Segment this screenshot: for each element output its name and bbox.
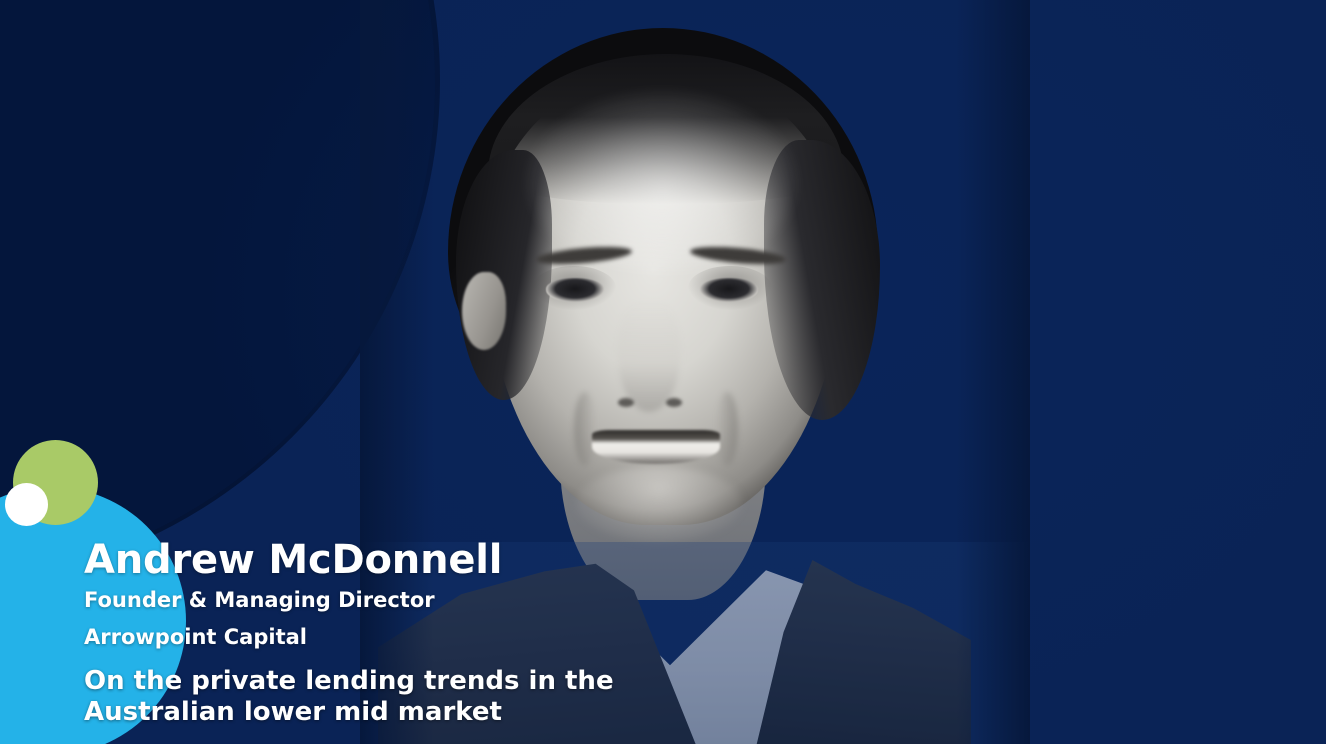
portrait-nostril-right: [666, 398, 682, 407]
portrait-smile-line-left: [574, 392, 596, 466]
portrait-chin: [576, 466, 742, 542]
speaker-company: Arrowpoint Capital: [84, 627, 724, 648]
portrait-nostril-left: [618, 398, 634, 407]
speaker-caption: Andrew McDonnell Founder & Managing Dire…: [84, 540, 724, 727]
portrait-forehead-highlight: [528, 92, 796, 272]
portrait-eye-left: [546, 278, 604, 302]
speaker-role: Founder & Managing Director: [84, 590, 724, 611]
portrait-nose: [618, 300, 680, 412]
portrait-mouth: [592, 430, 720, 464]
portrait-smile-line-right: [716, 392, 738, 466]
speaker-topic: On the private lending trends in the Aus…: [84, 666, 724, 727]
portrait-ear: [462, 272, 506, 350]
speaker-name: Andrew McDonnell: [84, 540, 724, 580]
speaker-topic-line-2: Australian lower mid market: [84, 697, 724, 728]
speaker-topic-line-1: On the private lending trends in the: [84, 666, 724, 697]
speaker-slide: Andrew McDonnell Founder & Managing Dire…: [0, 0, 1326, 744]
portrait-eye-right: [700, 278, 758, 302]
white-circle-icon: [5, 483, 48, 526]
